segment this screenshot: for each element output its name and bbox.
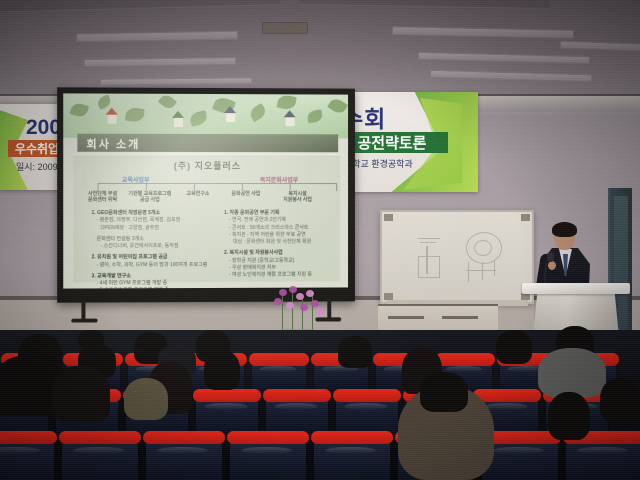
slide-column-left: 1. GEO문화센터 직영운영 5개소- 평촌점, 의정부, 다산점, 목계점,… bbox=[92, 210, 212, 289]
slide-title-bar: 회사 소개 bbox=[77, 134, 338, 153]
org-cell: 복지시설 지원봉사 사업 bbox=[274, 191, 322, 203]
org-cell: 사전단체 부설 문화센터 위탁 bbox=[81, 191, 123, 204]
slide-title: 회사 소개 bbox=[86, 136, 140, 152]
audience-member bbox=[78, 330, 104, 348]
org-cell: 문화공연 사업 bbox=[224, 191, 268, 197]
slide-text-line: - 5~6세 7세 과학 프로그램 개발 중 bbox=[92, 287, 212, 288]
audience-member bbox=[204, 350, 240, 390]
seat bbox=[196, 396, 258, 436]
ceiling-light bbox=[392, 26, 574, 39]
ceiling-light bbox=[76, 31, 238, 43]
lecture-hall-photo: 200 우수취업 일시: 2009. 수회 공전략토론 대학교 환경공학과 bbox=[0, 0, 640, 480]
seat bbox=[336, 396, 398, 436]
ceiling-tile bbox=[300, 0, 550, 8]
slide-header-image bbox=[63, 93, 348, 138]
banner-left-year: 200 bbox=[26, 116, 61, 140]
seat bbox=[230, 438, 306, 480]
audience-member bbox=[600, 378, 640, 422]
podium-top bbox=[522, 283, 630, 294]
audience-member bbox=[496, 330, 532, 364]
ceiling-vent bbox=[262, 22, 308, 34]
presentation-slide: 회사 소개 (주) 지오플러스 교육사업부 복지문화사업부 사전단체 부설 문화… bbox=[63, 93, 348, 288]
seat bbox=[146, 438, 222, 480]
ceiling-light bbox=[100, 77, 252, 86]
microphone-icon bbox=[547, 252, 554, 262]
projection-screen-surface: 회사 소개 (주) 지오플러스 교육사업부 복지문화사업부 사전단체 부설 문화… bbox=[63, 93, 348, 288]
slide-subtitle: (주) 지오플러스 bbox=[73, 159, 340, 172]
audience-member bbox=[420, 372, 468, 412]
audience-area bbox=[0, 330, 640, 480]
screen-foot bbox=[71, 319, 97, 323]
ceiling-light bbox=[418, 52, 590, 64]
slide-body: (주) 지오플러스 교육사업부 복지문화사업부 사전단체 부설 문화센터 위탁 … bbox=[73, 154, 340, 283]
seat bbox=[314, 438, 390, 480]
seat bbox=[566, 438, 640, 480]
slide-house-icon bbox=[226, 112, 235, 122]
slide-column-right: 1. 각종 문화공연 부문 기획- 연극, 전래 공연과 2인기획- 콘서트 :… bbox=[224, 210, 341, 279]
audience-member bbox=[538, 348, 606, 398]
audience-member bbox=[124, 378, 168, 420]
slide-house-icon bbox=[174, 117, 183, 127]
slide-text-line: - 영어, 수학, 과학, GYM 등의 방과 100여개 프로그램 bbox=[92, 261, 212, 269]
ceiling-light bbox=[430, 70, 592, 83]
audience-member bbox=[338, 336, 372, 368]
presenter-hair bbox=[552, 222, 577, 237]
audience-member bbox=[52, 366, 110, 422]
org-cell: 교육연구소 bbox=[178, 191, 218, 197]
slide-house-icon bbox=[108, 114, 117, 124]
banner-left-subtitle: 일시: 2009. bbox=[16, 160, 60, 173]
projection-screen: 회사 소개 (주) 지오플러스 교육사업부 복지문화사업부 사전단체 부설 문화… bbox=[57, 87, 355, 302]
whiteboard bbox=[380, 210, 534, 304]
seat bbox=[0, 438, 54, 480]
org-chart-bracket bbox=[98, 183, 338, 191]
org-cell: 기관별 교육프로그램 공급 사업 bbox=[126, 191, 174, 204]
slide-text-line: - 여성 노인복지관 재활 프로그램 지원 등 bbox=[224, 272, 341, 280]
presenter-hand bbox=[548, 261, 556, 270]
ceiling-light bbox=[84, 57, 236, 67]
audience-member bbox=[548, 392, 590, 440]
ceiling-tile bbox=[0, 0, 280, 12]
seat bbox=[266, 396, 328, 436]
ceiling-light bbox=[560, 41, 640, 52]
seat bbox=[62, 438, 138, 480]
slide-house-icon bbox=[286, 116, 295, 126]
